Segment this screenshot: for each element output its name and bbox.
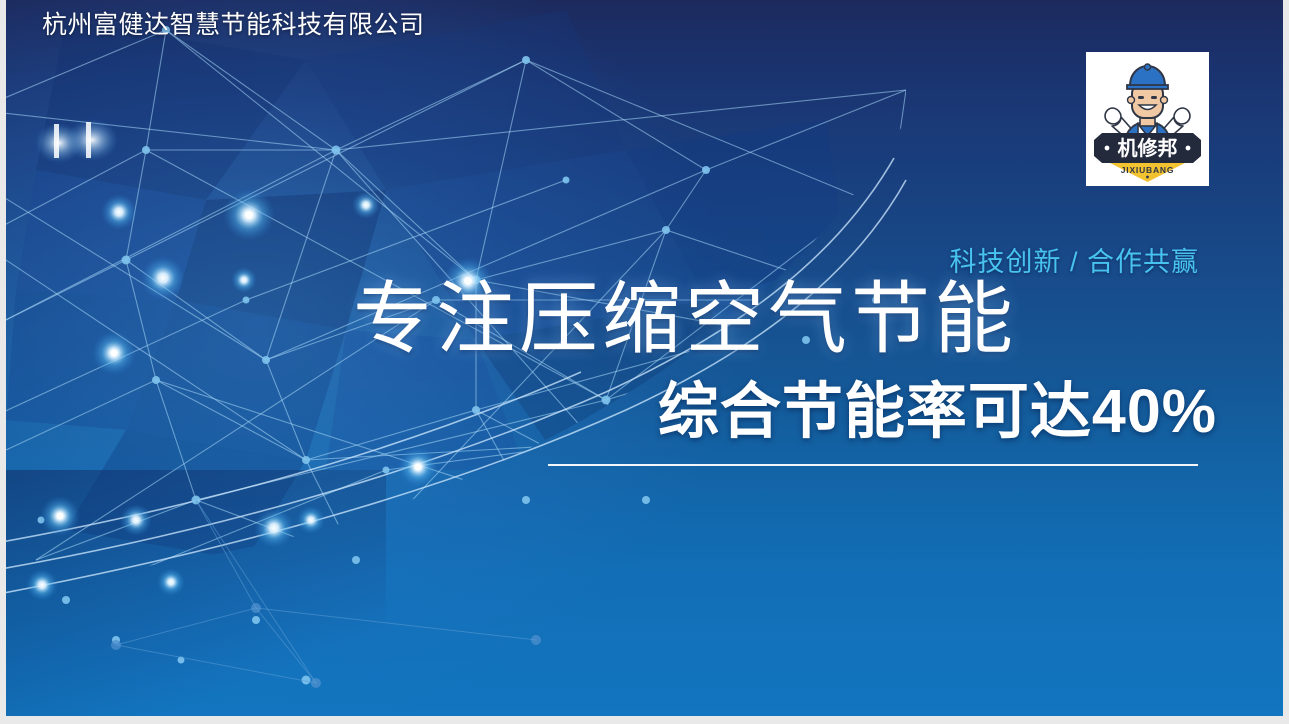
headline-secondary: 综合节能率可达40% xyxy=(658,381,1217,442)
company-name: 杭州富健达智慧节能科技有限公司 xyxy=(42,9,425,42)
brand-logo-card[interactable]: 机修邦 JIXIUBANG xyxy=(1086,52,1209,186)
logo-brand-en: JIXIUBANG xyxy=(1121,165,1175,175)
headline-primary: 专注压缩空气节能 xyxy=(353,281,1017,360)
promotional-slide: 杭州富健达智慧节能科技有限公司 xyxy=(0,0,1289,724)
lower-left-dark-wedge xyxy=(6,470,386,716)
jixiubang-logo-icon: 机修邦 JIXIUBANG xyxy=(1090,56,1205,182)
slide-canvas: 杭州富健达智慧节能科技有限公司 xyxy=(6,0,1283,716)
headline-divider-rule xyxy=(548,464,1198,466)
logo-brand-cn: 机修邦 xyxy=(1118,136,1178,160)
slogan-tagline: 科技创新 / 合作共赢 xyxy=(949,240,1199,279)
